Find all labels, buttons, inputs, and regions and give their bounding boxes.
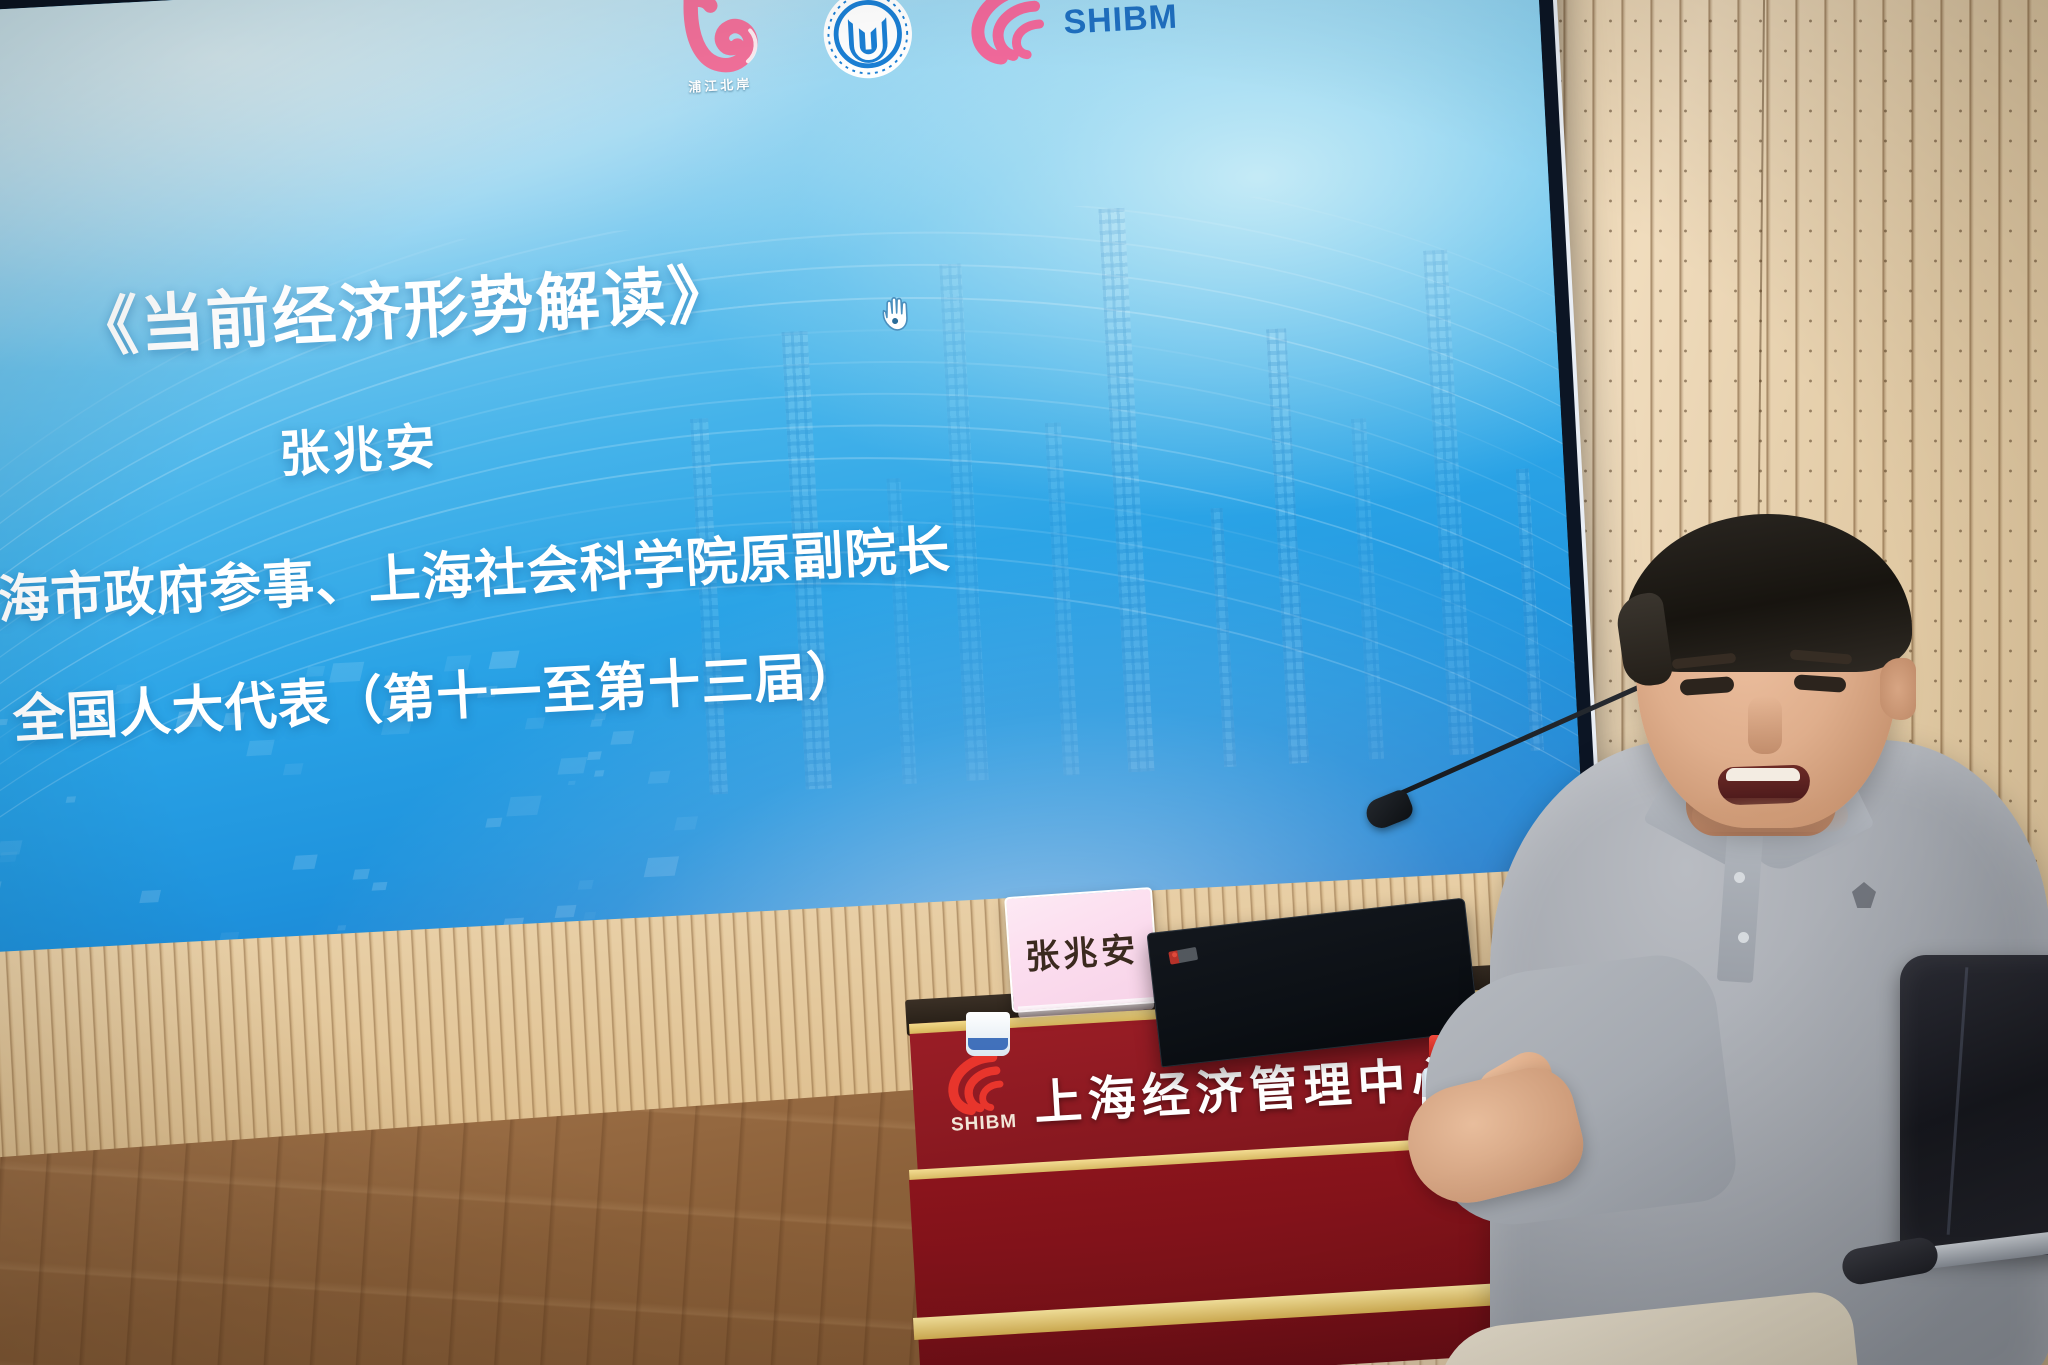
shibm-logo: SHIBM	[967, 0, 1180, 71]
cup-band	[968, 1038, 1008, 1050]
university-u-logo-icon	[817, 0, 918, 84]
bird-logo-caption: 浦江北岸	[688, 73, 753, 95]
nameplate-text: 张兆安	[1023, 922, 1140, 979]
slide-speaker-name: 张兆安	[277, 407, 440, 487]
university-u-logo	[817, 0, 918, 84]
projection-screen[interactable]: 浦江北岸	[0, 0, 1602, 1017]
hand-cursor-icon[interactable]	[878, 295, 914, 333]
bird-logo: 浦江北岸	[667, 0, 768, 97]
shibm-logo-text: SHIBM	[1062, 0, 1178, 43]
podium-shibm-text: SHIBM	[950, 1111, 1017, 1137]
office-chair	[1900, 955, 2048, 1365]
nameplate-card: 张兆安	[1004, 887, 1160, 1013]
podium-shibm-logo: SHIBM	[945, 1051, 1020, 1137]
person-chin	[1692, 798, 1848, 832]
screen-surface[interactable]: 浦江北岸	[0, 0, 1587, 990]
person-nose	[1748, 696, 1782, 754]
paper-cup	[966, 1012, 1010, 1056]
screenshot-root: 浦江北岸	[0, 0, 2048, 1365]
person-ear	[1880, 658, 1916, 720]
nameplate: 张兆安	[1004, 887, 1160, 1013]
person-teeth	[1726, 768, 1800, 781]
person-shirt-button-1	[1734, 872, 1745, 883]
chair-backrest	[1900, 955, 2048, 1255]
person-shirt-button-2	[1738, 932, 1749, 943]
shibm-logo-icon	[967, 0, 1063, 71]
bird-logo-icon	[667, 0, 768, 82]
